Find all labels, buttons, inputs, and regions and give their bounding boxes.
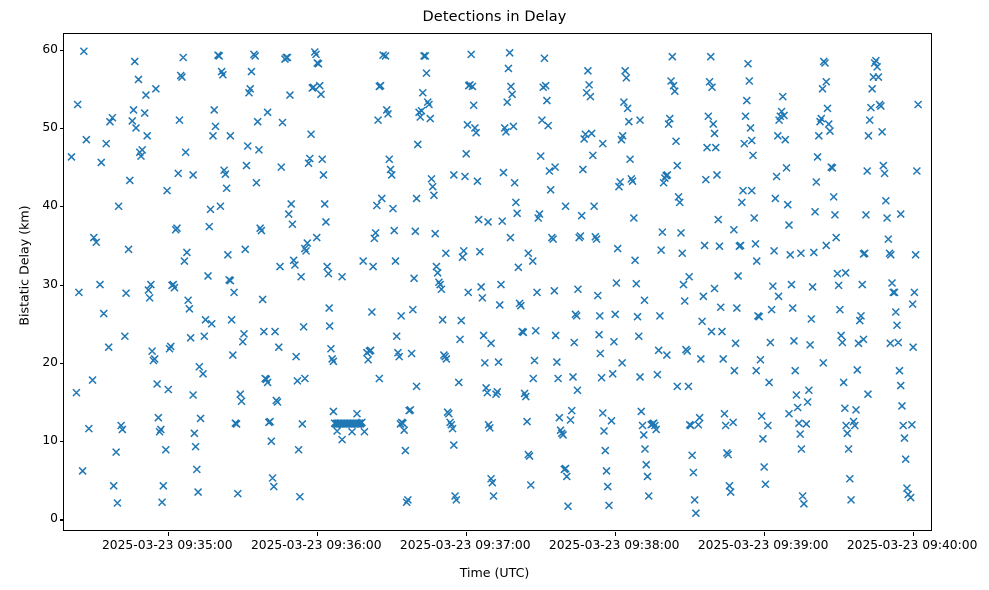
x-tick-mark xyxy=(317,532,318,536)
y-tick-label: 10 xyxy=(22,433,58,447)
chart-title: Detections in Delay xyxy=(0,9,989,25)
y-tick-mark xyxy=(60,128,64,129)
x-tick-mark xyxy=(764,532,765,536)
y-tick-mark xyxy=(60,363,64,364)
x-tick-label: 2025-03-23 09:40:00 xyxy=(847,538,978,552)
y-tick-mark xyxy=(60,519,64,520)
x-tick-mark xyxy=(913,532,914,536)
scatter-marker-path xyxy=(68,48,922,517)
matplotlib-figure: Detections in Delay 0102030405060 2025-0… xyxy=(0,0,989,590)
x-tick-mark xyxy=(615,532,616,536)
y-tick-label: 50 xyxy=(22,120,58,134)
y-tick-mark xyxy=(60,206,64,207)
x-tick-mark xyxy=(168,532,169,536)
plot-area xyxy=(63,33,932,531)
y-axis-label: Bistatic Delay (km) xyxy=(17,146,32,386)
x-tick-mark xyxy=(466,532,467,536)
x-tick-label: 2025-03-23 09:35:00 xyxy=(102,538,233,552)
x-tick-label: 2025-03-23 09:39:00 xyxy=(698,538,829,552)
scatter-points-svg xyxy=(64,34,931,530)
scatter-points-layer xyxy=(64,34,931,530)
x-tick-label: 2025-03-23 09:37:00 xyxy=(400,538,531,552)
x-axis-label: Time (UTC) xyxy=(0,565,989,580)
y-tick-label: 60 xyxy=(22,42,58,56)
x-tick-label: 2025-03-23 09:36:00 xyxy=(251,538,382,552)
y-tick-label: 0 xyxy=(22,511,58,525)
x-tick-label: 2025-03-23 09:38:00 xyxy=(549,538,680,552)
y-tick-mark xyxy=(60,50,64,51)
y-tick-mark xyxy=(60,441,64,442)
y-tick-mark xyxy=(60,285,64,286)
